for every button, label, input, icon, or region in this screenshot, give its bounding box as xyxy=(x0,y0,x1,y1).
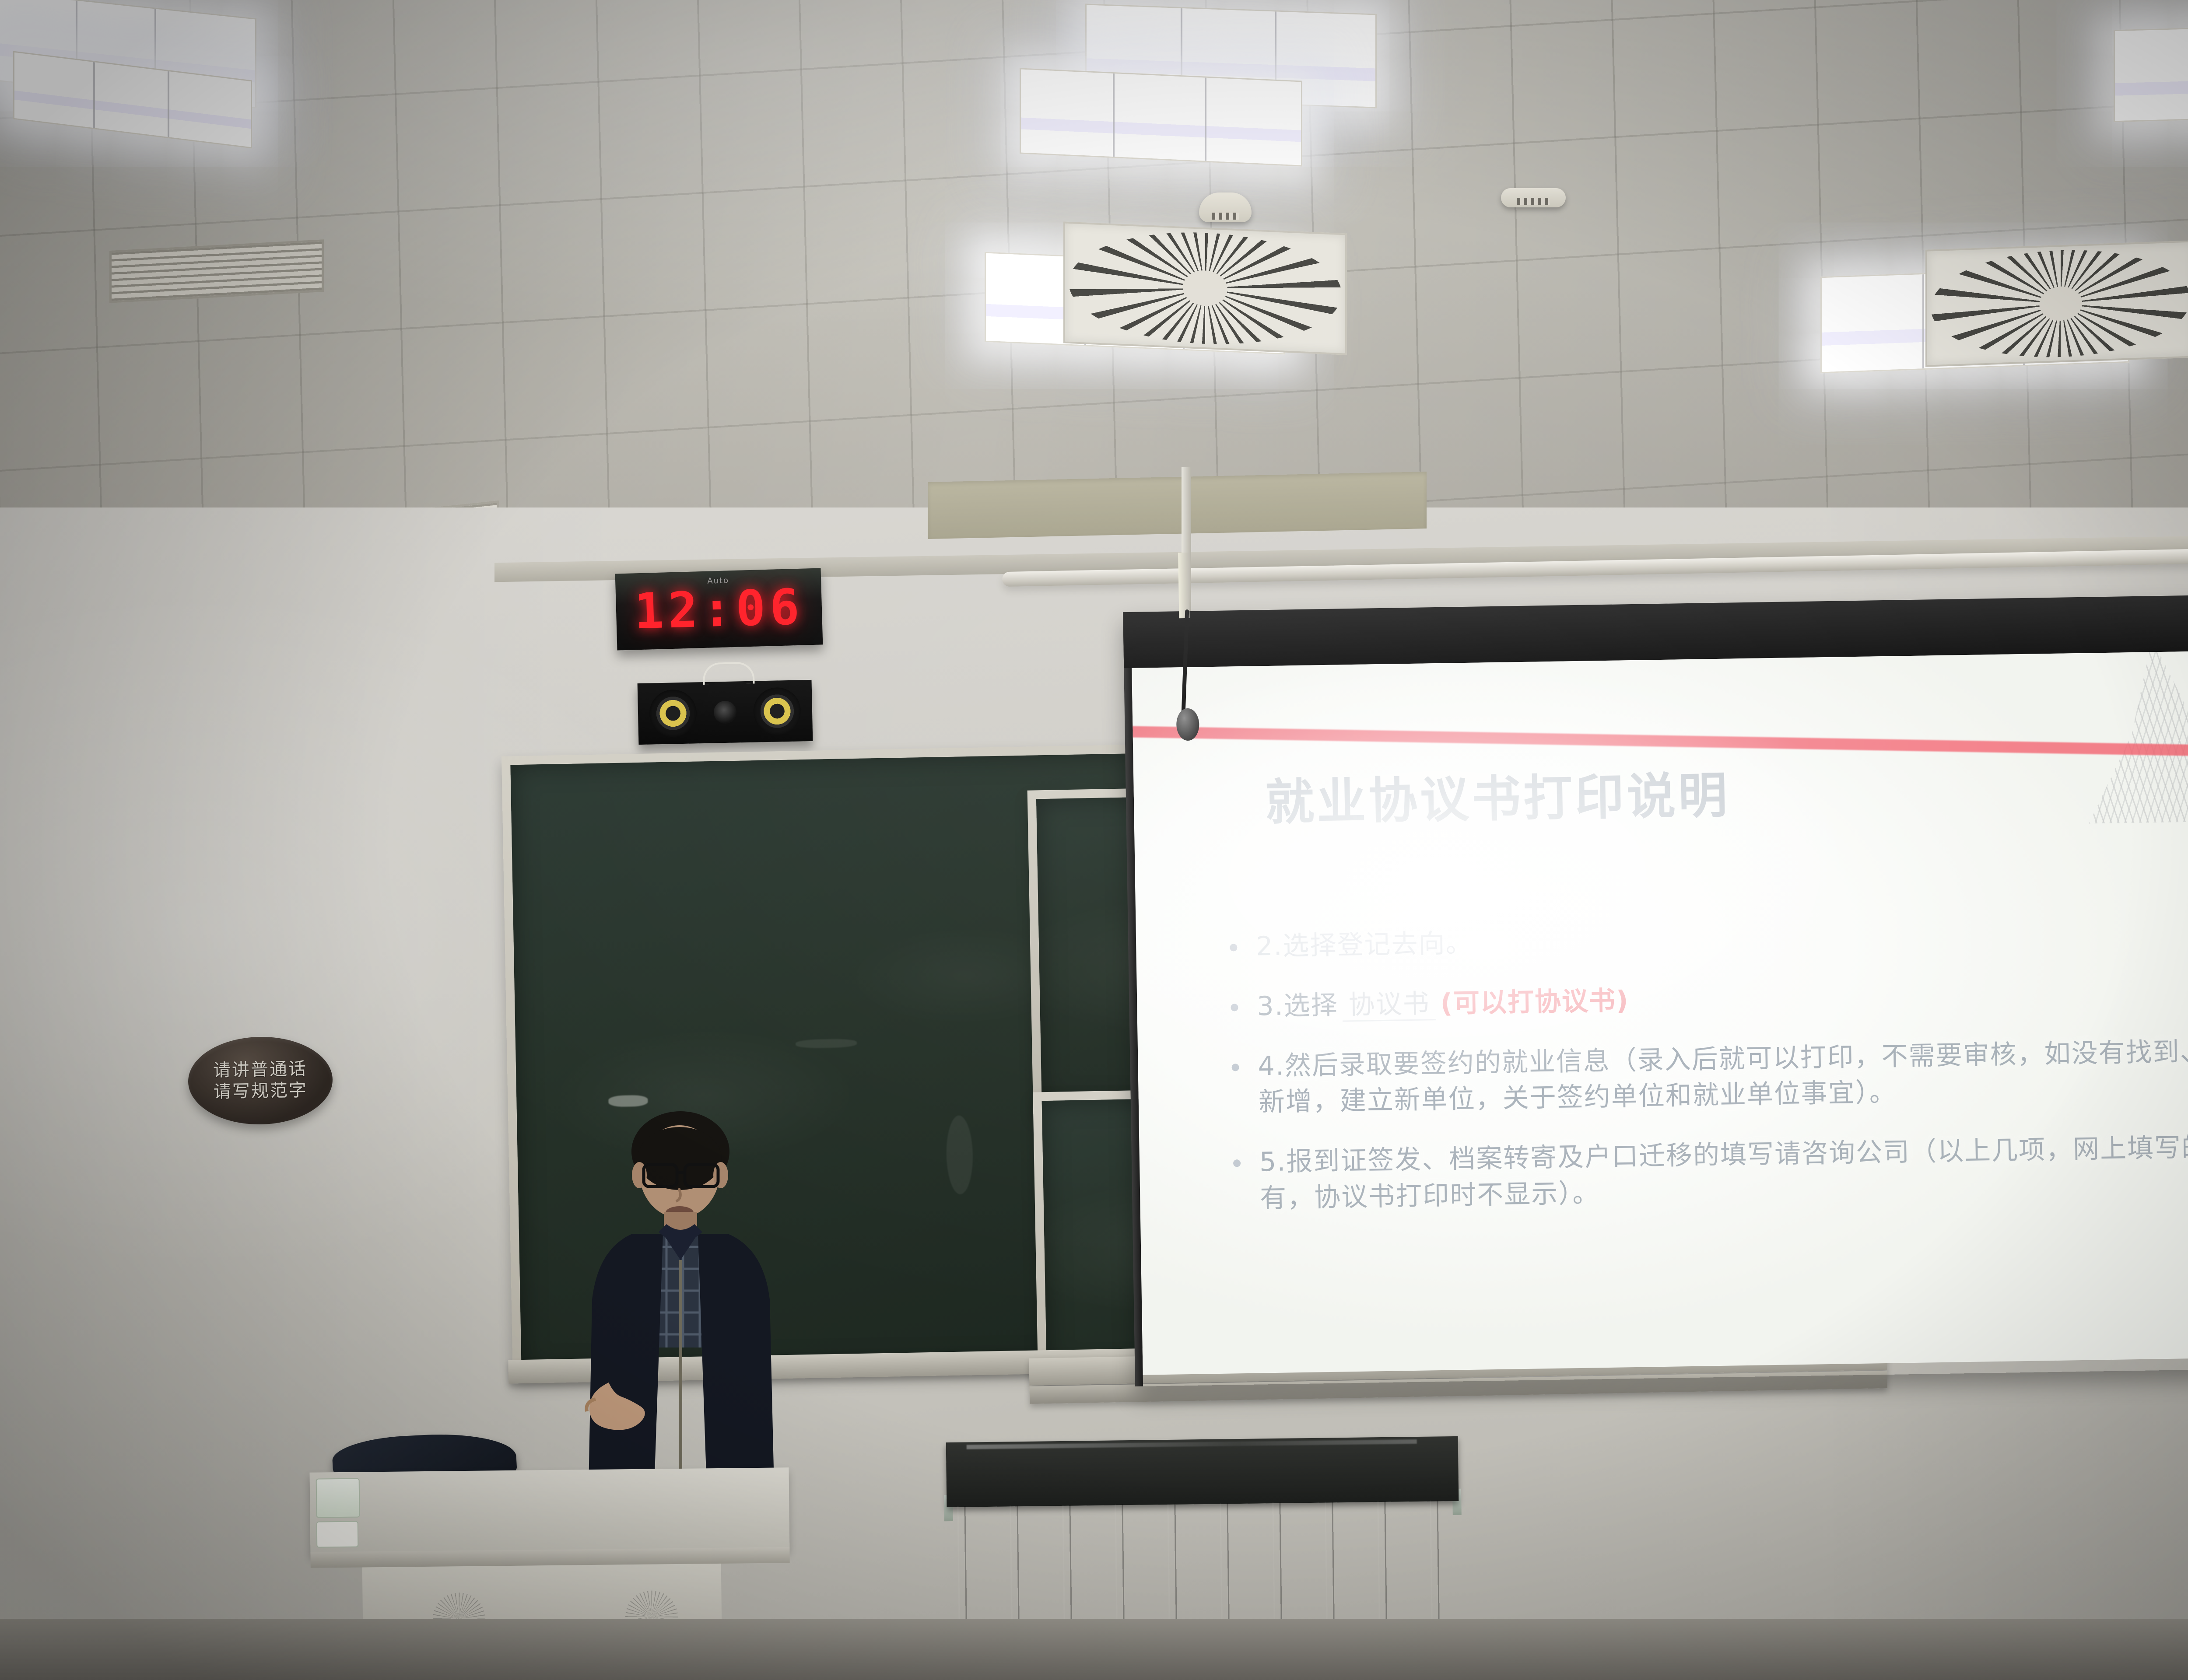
slide-building-graphic xyxy=(2057,650,2188,824)
bullet-5-text: 5.报到证签发、档案转寄及户口迁移的填写请咨询公司（以上几项，网上填写的时候有，… xyxy=(1259,1129,2188,1217)
podium-top xyxy=(310,1467,790,1555)
hanging-microphone-icon xyxy=(1175,609,1197,754)
hvac-diffuser-icon xyxy=(1925,240,2188,367)
podium-sticker-green xyxy=(316,1478,360,1518)
console-top xyxy=(946,1436,1459,1507)
plaque-line-2: 请写规范字 xyxy=(214,1080,308,1103)
list-item: 5.报到证签发、档案转寄及户口迁移的填写请咨询公司（以上几项，网上填写的时候有，… xyxy=(1213,1129,2188,1218)
bullet-3-term: 协议书 xyxy=(1342,988,1436,1022)
presentation-slide: 就业协议书打印说明 2.选择登记去向。 3.选择协议书(可以打协议书) 4.然后… xyxy=(1132,650,2188,1375)
floor xyxy=(0,1619,2188,1680)
ceiling-light xyxy=(1020,68,1302,166)
slide-bullet-list: 2.选择登记去向。 3.选择协议书(可以打协议书) 4.然后录取要签约的就业信息… xyxy=(1210,913,2188,1241)
clock-time-display: 12:06 xyxy=(615,578,822,640)
digital-clock: Auto 12:06 xyxy=(615,568,823,650)
speaker-wire xyxy=(703,662,755,685)
speaker-woofer-right-icon xyxy=(753,687,801,735)
slide-title: 就业协议书打印说明 xyxy=(1265,756,1730,834)
bullet-2-text: 2.选择登记去向。 xyxy=(1256,913,2188,965)
speaker-woofer-left-icon xyxy=(649,689,697,737)
projection-screen: 就业协议书打印说明 2.选择登记去向。 3.选择协议书(可以打协议书) 4.然后… xyxy=(1123,594,2188,1386)
presenter-figure xyxy=(554,1102,781,1487)
wall-speaker xyxy=(638,680,813,745)
list-item: 2.选择登记去向。 xyxy=(1210,913,2188,966)
list-item: 3.选择协议书(可以打协议书) xyxy=(1211,973,2188,1025)
bullet-4-text: 4.然后录取要签约的就业信息（录入后就可以打印，不需要审核，如没有找到、点击新增… xyxy=(1258,1032,2188,1121)
podium-sticker-white xyxy=(316,1521,359,1548)
bullet-3-prefix: 3.选择 xyxy=(1257,990,1338,1022)
bullet-3-note: (可以打协议书) xyxy=(1440,985,1629,1019)
smoke-detector-icon xyxy=(1501,188,1566,207)
wall-header-band xyxy=(928,472,1427,539)
plaque-line-1: 请讲普通话 xyxy=(213,1058,308,1081)
speaker-tweeter-icon xyxy=(713,700,736,724)
hvac-diffuser-icon xyxy=(1063,221,1347,355)
smoke-detector-icon xyxy=(1199,192,1252,222)
ceiling-light xyxy=(2114,23,2188,122)
classroom-photo: Auto 12:06 请讲普通话 请写规范字 xyxy=(0,0,2188,1680)
wall-vent-grille xyxy=(109,239,324,303)
slide-accent-line xyxy=(1132,726,2188,758)
list-item: 4.然后录取要签约的就业信息（录入后就可以打印，不需要审核，如没有找到、点击新增… xyxy=(1212,1032,2188,1121)
